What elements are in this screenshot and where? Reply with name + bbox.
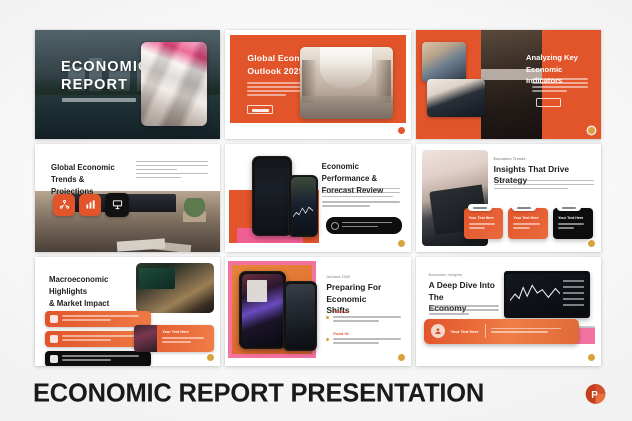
arcade-ceiling bbox=[320, 47, 372, 89]
slide-6-card-row: Your Text Here Your Text Here Your Text … bbox=[464, 208, 593, 239]
phone-large-screen bbox=[255, 158, 290, 233]
feature-card-heading: Your Text Here bbox=[162, 330, 209, 334]
trading-monitor bbox=[139, 268, 175, 289]
slide-3-cta-button[interactable] bbox=[536, 98, 561, 107]
bar-chart-icon bbox=[85, 199, 96, 210]
point-item-1: Point 01 bbox=[326, 309, 404, 324]
point-1-text bbox=[333, 316, 404, 322]
arcade-floor bbox=[300, 96, 393, 119]
slide-8-phone-large bbox=[239, 271, 286, 349]
network-icon bbox=[59, 199, 70, 210]
slide-3-photo-bottom bbox=[427, 79, 485, 117]
desk-plant bbox=[183, 198, 205, 222]
slide-5-title-line-1: Economic Performance & bbox=[322, 161, 400, 185]
sparkline-icon bbox=[293, 205, 313, 220]
slide-3-title-line-1: Analyzing Key bbox=[526, 52, 588, 64]
powerpoint-icon: P bbox=[585, 383, 606, 404]
phone-large-screen bbox=[242, 274, 283, 346]
slide-thumbnail-9[interactable]: Economic Insights A Deep Dive Into The E… bbox=[416, 257, 601, 366]
insight-card-3-pill bbox=[557, 204, 581, 211]
point-2-text bbox=[333, 338, 404, 344]
slide-7-photo bbox=[136, 263, 214, 313]
avatar bbox=[431, 324, 445, 338]
phone-small-screen bbox=[291, 177, 316, 234]
point-1-heading: Point 01 bbox=[333, 309, 404, 314]
slide-4-body-text bbox=[136, 161, 208, 181]
row-2-badge-icon bbox=[50, 335, 58, 343]
slide-1-title: ECONOMIC REPORT bbox=[61, 58, 150, 94]
point-item-2: Point 02 bbox=[326, 331, 404, 346]
slide-7-title-line-1: Macroeconomic Highlights bbox=[49, 274, 141, 298]
slide-7-page-badge bbox=[207, 354, 214, 361]
slide-5-note-card bbox=[326, 217, 402, 234]
slide-3-page-badge bbox=[588, 127, 595, 134]
slide-9-kicker: Economic Insights bbox=[429, 273, 463, 277]
slide-6-kicker: Economic Trends bbox=[494, 157, 526, 161]
slide-8-point-list: Point 01 Point 02 bbox=[326, 309, 404, 346]
insight-card-3[interactable]: Your Text Here bbox=[553, 208, 593, 239]
highlight-row-1-text bbox=[62, 315, 146, 323]
slide-thumbnail-1[interactable]: ECONOMIC REPORT bbox=[35, 30, 220, 139]
slide-5-body-text bbox=[322, 188, 400, 210]
speaker-bar-text bbox=[491, 328, 572, 336]
insight-card-2-pill bbox=[512, 204, 536, 211]
slide-1-photo bbox=[141, 42, 207, 126]
slide-6-page-badge bbox=[588, 240, 595, 247]
slide-9-page-badge bbox=[588, 354, 595, 361]
slide-9-speaker-bar[interactable]: Your Text Here bbox=[424, 319, 579, 344]
phone-small-screen bbox=[286, 284, 315, 349]
insight-card-2-text bbox=[513, 223, 543, 229]
slide-2-orange-panel: Global Economic Outlook 2025 bbox=[230, 35, 405, 123]
slide-thumbnail-8[interactable]: Outlook 2025 Preparing For Economic Shif… bbox=[225, 257, 410, 366]
insight-card-3-heading: Your Text Here bbox=[558, 216, 588, 220]
insight-card-1[interactable]: Your Text Here bbox=[464, 208, 504, 239]
desk-paper-2 bbox=[150, 241, 191, 252]
slide-9-body-text bbox=[429, 305, 499, 317]
feature-card-text bbox=[162, 337, 209, 343]
laptop-data-panel bbox=[563, 280, 584, 310]
slide-8-phone-small bbox=[283, 281, 317, 351]
insight-card-2[interactable]: Your Text Here bbox=[508, 208, 548, 239]
row-3-badge-icon bbox=[50, 355, 58, 363]
slide-5-note-text bbox=[342, 222, 397, 230]
insight-card-1-pill bbox=[468, 204, 492, 211]
speaker-name: Your Text Here bbox=[451, 329, 479, 334]
slide-6-body-text bbox=[494, 180, 594, 192]
slide-1-subtitle-placeholder bbox=[62, 98, 136, 102]
svg-text:P: P bbox=[591, 389, 598, 400]
slide-3-body-text bbox=[532, 78, 588, 94]
insight-card-1-text bbox=[469, 223, 499, 229]
slide-1-title-line-1: ECONOMIC bbox=[61, 58, 150, 76]
slide-8-page-badge bbox=[398, 354, 405, 361]
highlight-row-3[interactable] bbox=[45, 351, 151, 366]
slide-thumbnail-3[interactable]: Analyzing Key Economic Indicators bbox=[416, 30, 601, 139]
presentation-icon bbox=[112, 199, 123, 210]
slide-3-photo-top bbox=[422, 42, 466, 82]
bar-chart-icon-card[interactable] bbox=[79, 194, 101, 216]
slide-thumbnail-6[interactable]: Economic Trends Insights That Drive Stra… bbox=[416, 144, 601, 253]
slide-thumbnail-7[interactable]: Macroeconomic Highlights & Market Impact bbox=[35, 257, 220, 366]
slide-5-page-badge bbox=[398, 240, 405, 247]
slide-8-kicker: Outlook 2025 bbox=[326, 275, 350, 279]
user-icon bbox=[434, 327, 442, 335]
slide-grid: ECONOMIC REPORT Global Economic Outlook … bbox=[35, 30, 601, 366]
slide-thumbnail-5[interactable]: Economic Performance & Forecast Review bbox=[225, 144, 410, 253]
slide-9-title-line-1: A Deep Dive Into The bbox=[429, 280, 503, 303]
info-icon bbox=[331, 222, 339, 230]
speaker-bar-divider bbox=[485, 324, 486, 338]
page-title: ECONOMIC REPORT PRESENTATION bbox=[33, 379, 484, 408]
slide-7-title-line-2: & Market Impact bbox=[49, 298, 141, 310]
phone-document-overlay bbox=[247, 280, 267, 302]
presentation-icon-card[interactable] bbox=[105, 193, 129, 217]
insight-card-2-heading: Your Text Here bbox=[513, 216, 543, 220]
insight-card-1-heading: Your Text Here bbox=[469, 216, 499, 220]
slide-5-phone-large bbox=[252, 156, 292, 236]
feature-card-thumbnail bbox=[134, 325, 157, 352]
highlight-row-3-text bbox=[62, 355, 146, 363]
slide-2-photo bbox=[300, 47, 393, 119]
stock-chart-icon bbox=[510, 282, 560, 307]
slide-7-feature-card[interactable]: Your Text Here bbox=[134, 325, 214, 352]
network-icon-card[interactable] bbox=[53, 194, 75, 216]
slide-2-page-badge bbox=[398, 127, 405, 134]
slide-4-title-line-1: Global Economic Trends & bbox=[51, 162, 131, 186]
slide-thumbnail-2[interactable]: Global Economic Outlook 2025 bbox=[225, 30, 410, 139]
point-2-heading: Point 02 bbox=[333, 331, 404, 336]
preview-canvas: ECONOMIC REPORT Global Economic Outlook … bbox=[0, 0, 632, 421]
laptop-lid bbox=[504, 271, 590, 318]
row-1-badge-icon bbox=[50, 315, 58, 323]
footer-bar: ECONOMIC REPORT PRESENTATION P bbox=[0, 366, 632, 421]
slide-thumbnail-4[interactable]: Global Economic Trends & Projections bbox=[35, 144, 220, 253]
laptop-screen bbox=[506, 274, 587, 316]
slide-1-title-line-2: REPORT bbox=[61, 76, 150, 94]
feature-card-body: Your Text Here bbox=[157, 325, 214, 352]
slide-2-cta-button[interactable] bbox=[247, 105, 273, 114]
slide-4-icon-cards bbox=[53, 194, 129, 217]
slide-8-title-line-1: Preparing For Economic bbox=[326, 282, 404, 305]
insight-card-3-text bbox=[558, 223, 588, 229]
slide-5-phone-small bbox=[288, 175, 318, 237]
slide-7-title: Macroeconomic Highlights & Market Impact bbox=[49, 274, 141, 310]
